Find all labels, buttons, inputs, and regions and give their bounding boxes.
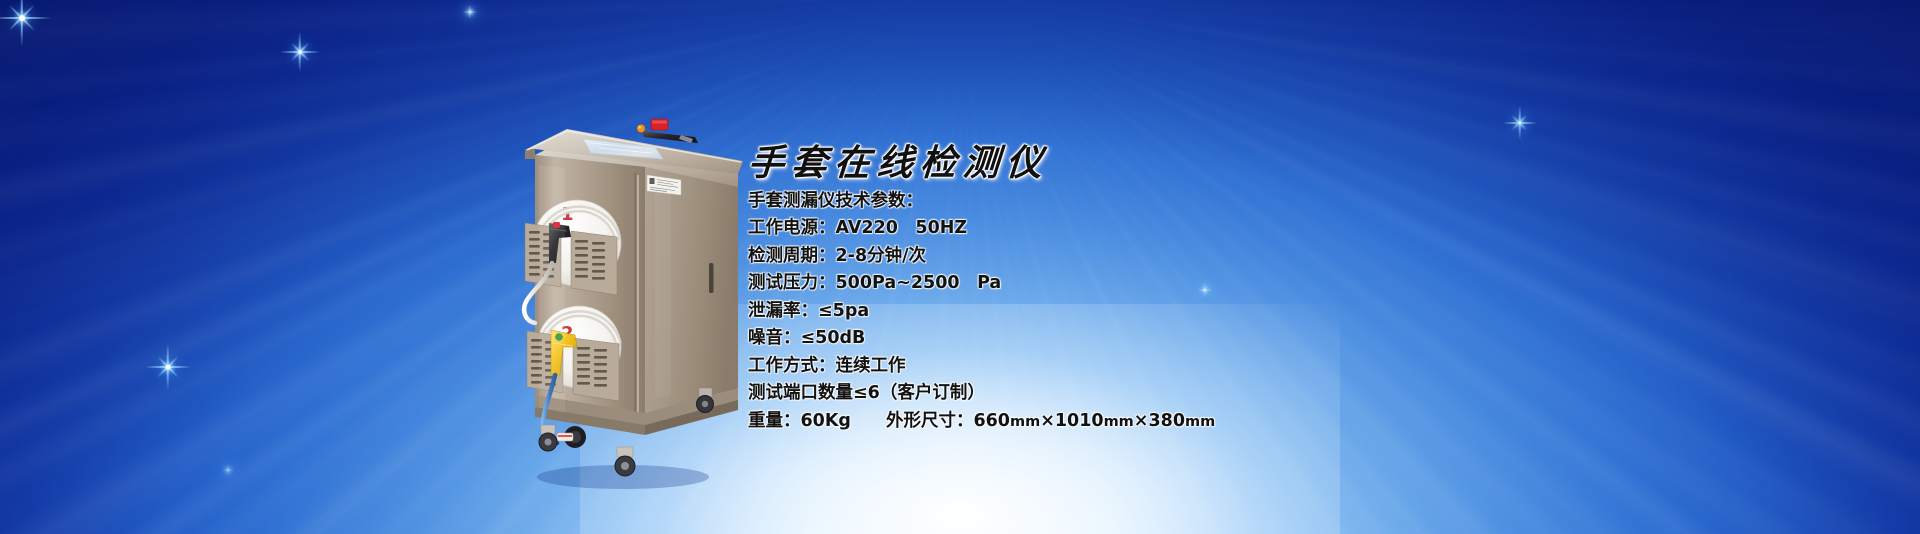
spec-heading: 手套测漏仪技术参数： — [748, 188, 1448, 216]
spec-line: 噪音：≤50dB — [748, 325, 1448, 353]
spec-line: 重量：60Kg 外形尺寸：660mm×1010mm×380mm — [748, 408, 1448, 437]
spec-line: 检测周期：2-8分钟/次 — [748, 243, 1448, 271]
spec-line: 工作方式：连续工作 — [748, 353, 1448, 381]
spec-line: 泄漏率：≤5pa — [748, 298, 1448, 326]
page-title: 手套在线检测仪 — [747, 145, 1450, 183]
spec-line: 工作电源：AV220 50HZ — [748, 215, 1448, 243]
specification-text-block: 手套在线检测仪 手套测漏仪技术参数： 工作电源：AV220 50HZ检测周期：2… — [748, 145, 1448, 436]
spec-line: 测试压力：500Pa~2500 Pa — [748, 270, 1448, 298]
product-banner: 1 — [0, 0, 1920, 534]
spec-line: 测试端口数量≤6（客户订制） — [748, 380, 1448, 408]
spec-list: 工作电源：AV220 50HZ检测周期：2-8分钟/次测试压力：500Pa~25… — [748, 215, 1448, 436]
